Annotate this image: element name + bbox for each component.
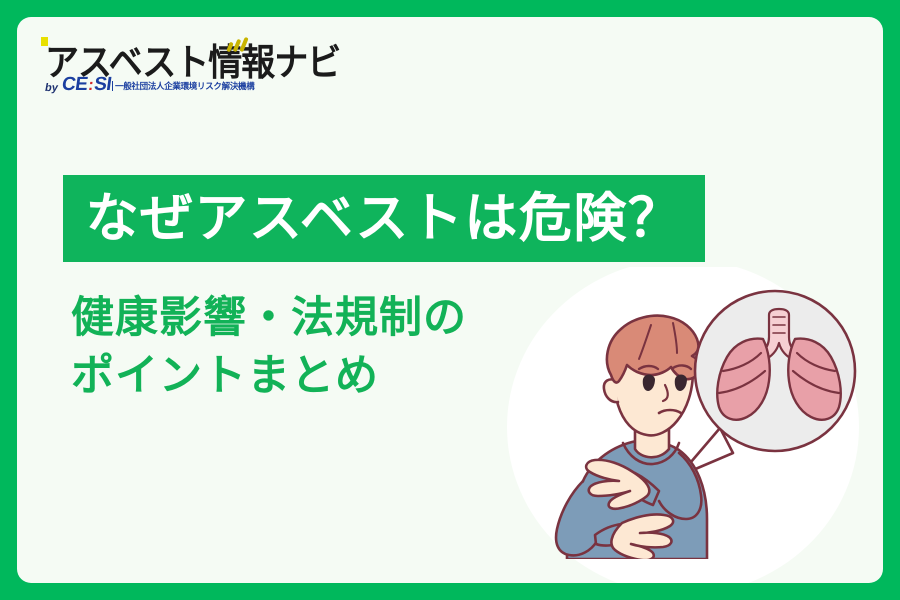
poster-inner-page: アスベスト情報ナビ by CE:SI 一般社団法人企業環境リスク解決機構 なぜア… [17,17,883,583]
logo-by-label: by [44,82,59,94]
subtitle-line-1: 健康影響・法規制の [71,289,541,347]
logo-abbr-ce: CE [60,74,88,95]
logo-abbr-si: SI [93,74,113,95]
signal-arcs-icon [227,37,253,59]
subtitle-block: 健康影響・法規制の ポイントまとめ [71,289,541,406]
man-holding-chest-with-lungs-illustration [483,267,883,583]
subtitle-line-2: ポイントまとめ [71,347,541,405]
poster-canvas: アスベスト情報ナビ by CE:SI 一般社団法人企業環境リスク解決機構 なぜア… [0,0,900,600]
headline-banner: なぜアスベストは危険？ [63,175,705,262]
site-logo[interactable]: アスベスト情報ナビ by CE:SI 一般社団法人企業環境リスク解決機構 [31,25,271,109]
logo-subline: by CE:SI 一般社団法人企業環境リスク解決機構 [45,75,254,94]
logo-org-fullname: 一般社団法人企業環境リスク解決機構 [115,80,254,94]
headline-title: なぜアスベストは危険？ [86,192,683,245]
logo-org-abbreviation: CE:SI [61,75,113,94]
